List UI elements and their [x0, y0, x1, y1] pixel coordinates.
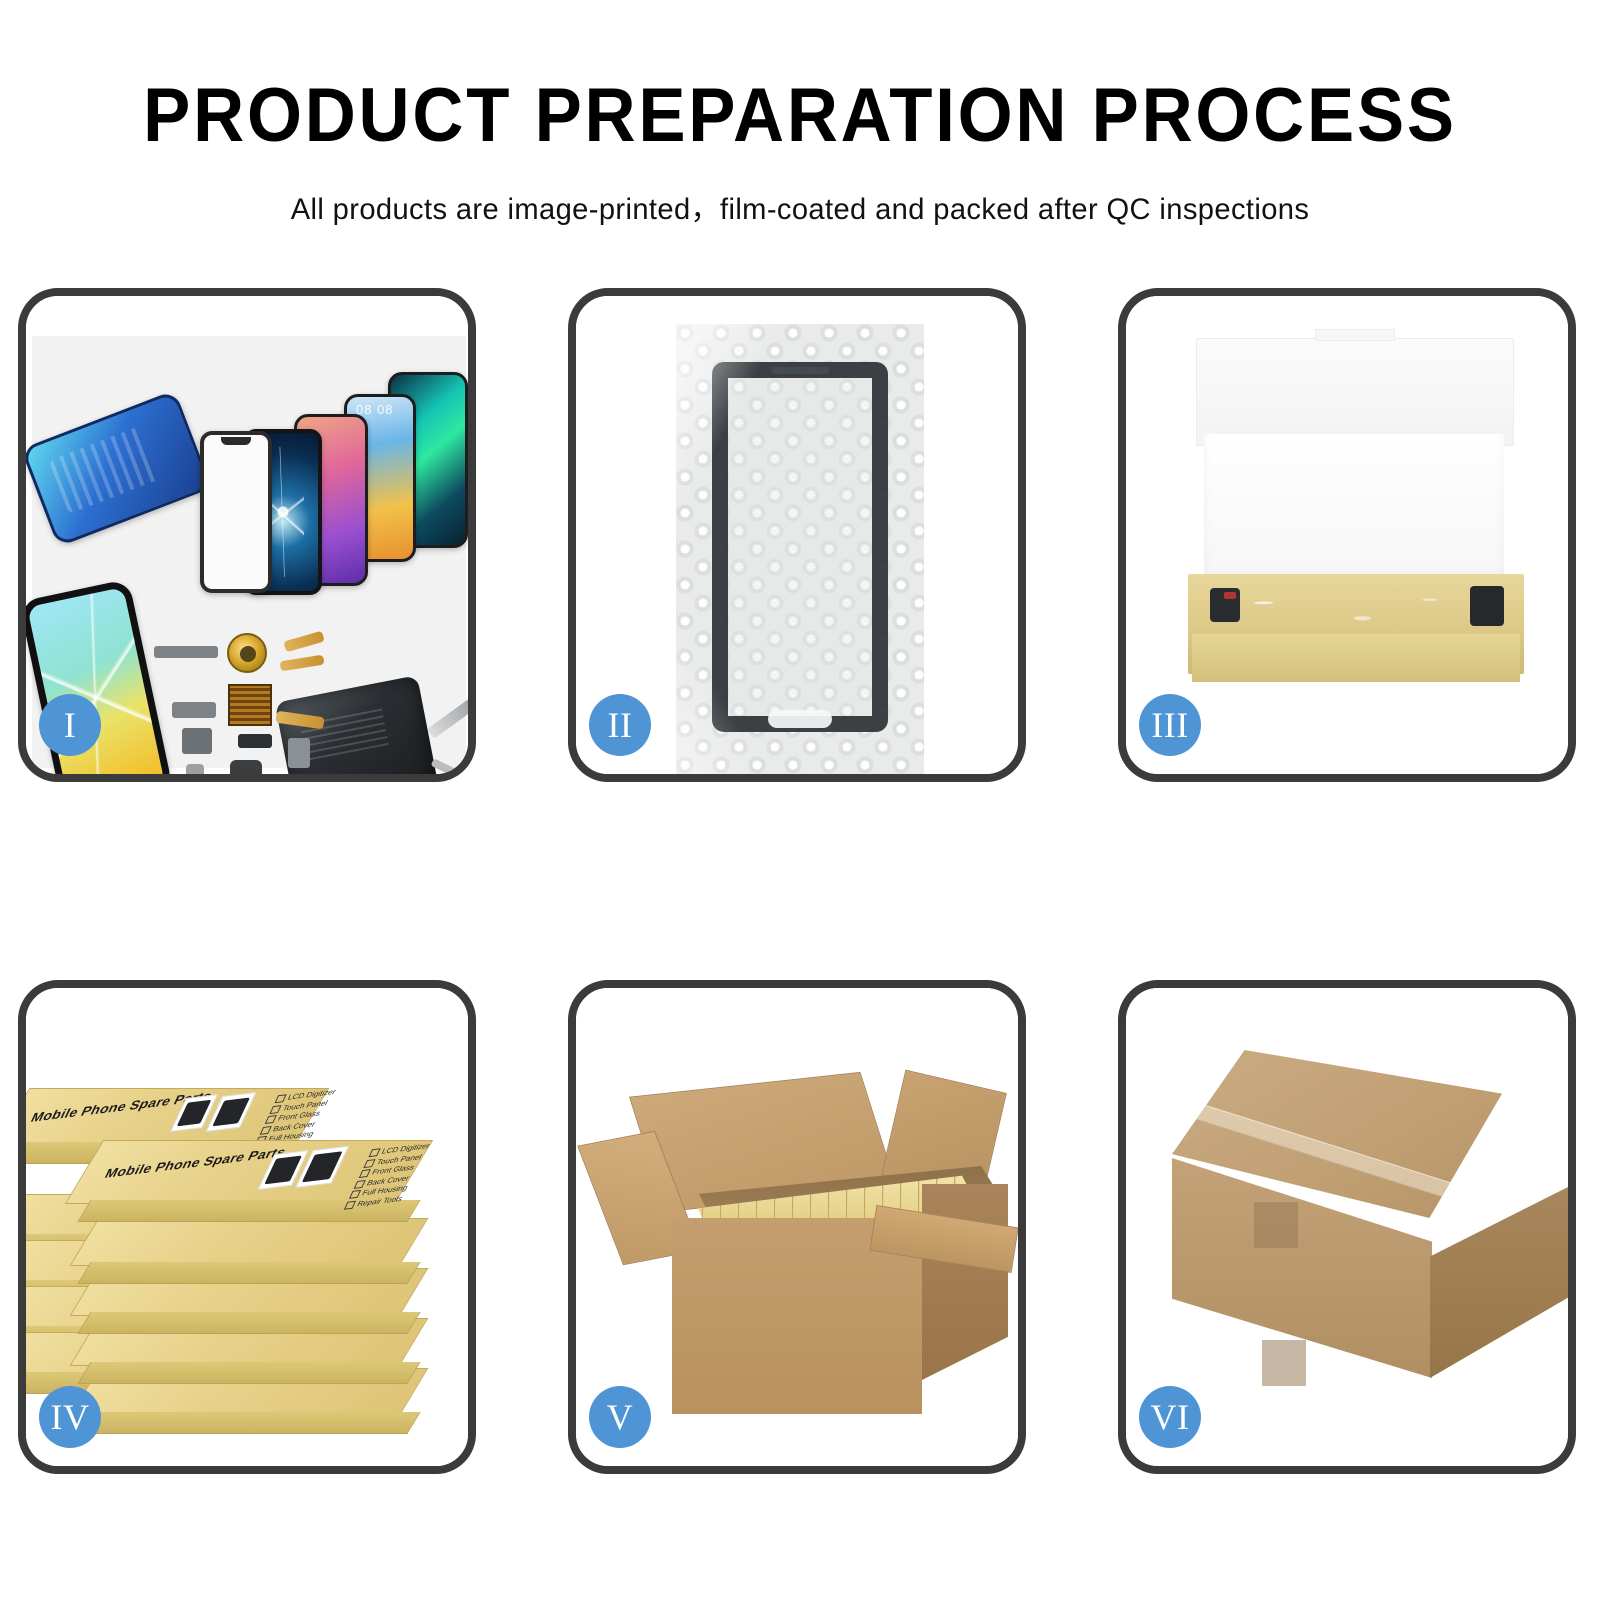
screen-connector-right: [1470, 586, 1504, 626]
bubble-wrap-sheet: [676, 324, 924, 774]
foam-padding-sheet: [1204, 434, 1504, 582]
carton-tab-upper: [1254, 1202, 1298, 1248]
step-badge-1: I: [39, 694, 101, 756]
flex-cable-part-1: [283, 631, 324, 653]
step-card-4: Mobile Phone Spare Parts LCD Digitizer T…: [18, 980, 476, 1474]
step-2-photo: [576, 296, 1018, 774]
step-card-3: III: [1118, 288, 1576, 782]
retail-box-front-2: [84, 1218, 414, 1266]
wrapped-screen-assembly: [712, 362, 888, 732]
step-card-2: II: [568, 288, 1026, 782]
step-4-photo: Mobile Phone Spare Parts LCD Digitizer T…: [26, 988, 468, 1466]
sim-tray-part: [238, 734, 272, 748]
steps-grid: 08 08 I: [18, 288, 1582, 1474]
carton-tab-lower: [1262, 1340, 1306, 1386]
step-badge-5: V: [589, 1386, 651, 1448]
phone-back-cover-adhesive: [26, 390, 212, 547]
step-1-photo: 08 08: [26, 296, 468, 774]
button-part: [186, 764, 204, 774]
mailer-lid-tab: [1315, 329, 1395, 341]
header: PRODUCT PREPARATION PROCESS All products…: [0, 0, 1600, 228]
taptic-engine-part: [230, 760, 262, 774]
retail-box-rear-top: Mobile Phone Spare Parts LCD Digitizer T…: [26, 1088, 312, 1146]
vibrator-part: [288, 738, 310, 768]
home-button-icon: [768, 710, 832, 728]
step-badge-4: IV: [39, 1386, 101, 1448]
sealed-carton-side: [1430, 1182, 1568, 1378]
page-title: PRODUCT PREPARATION PROCESS: [56, 78, 1544, 154]
wrapped-screen-in-box: [1202, 578, 1510, 640]
wireless-charging-coil-icon: [227, 633, 267, 673]
step-card-5: V: [568, 980, 1026, 1474]
step-badge-6: VI: [1139, 1386, 1201, 1448]
screen-connector-left: [1210, 588, 1240, 622]
phone-screen-clock: 08 08: [356, 402, 394, 417]
step-5-photo: [576, 988, 1018, 1466]
step-card-1: 08 08 I: [18, 288, 476, 782]
step-3-photo: [1126, 296, 1568, 774]
flex-cable-part-2: [279, 655, 324, 672]
step-card-6: VI: [1118, 980, 1576, 1474]
antenna-part: [154, 646, 218, 658]
parts-collage-background: 08 08: [32, 336, 466, 768]
tweezers-tool-icon: [431, 758, 468, 774]
connector-red-marker: [1224, 592, 1236, 599]
speaker-part: [182, 728, 212, 754]
step-badge-3: III: [1139, 694, 1201, 756]
camera-module-part: [172, 702, 216, 718]
page-subtitle: All products are image-printed，film-coat…: [24, 184, 1576, 228]
retail-box-front-top: Mobile Phone Spare Parts LCD Digitizer T…: [84, 1140, 414, 1204]
step-6-photo: [1126, 988, 1568, 1466]
phone-front-glass: [200, 431, 272, 593]
earpiece-speaker-icon: [771, 367, 829, 374]
step-badge-2: II: [589, 694, 651, 756]
mailer-box-lid: [1196, 338, 1514, 446]
ic-chip-icon: [228, 684, 272, 726]
mailer-box-front-panel: [1192, 634, 1520, 682]
spudger-tool-icon: [427, 689, 468, 739]
box-stack-stage: Mobile Phone Spare Parts LCD Digitizer T…: [26, 988, 468, 1466]
